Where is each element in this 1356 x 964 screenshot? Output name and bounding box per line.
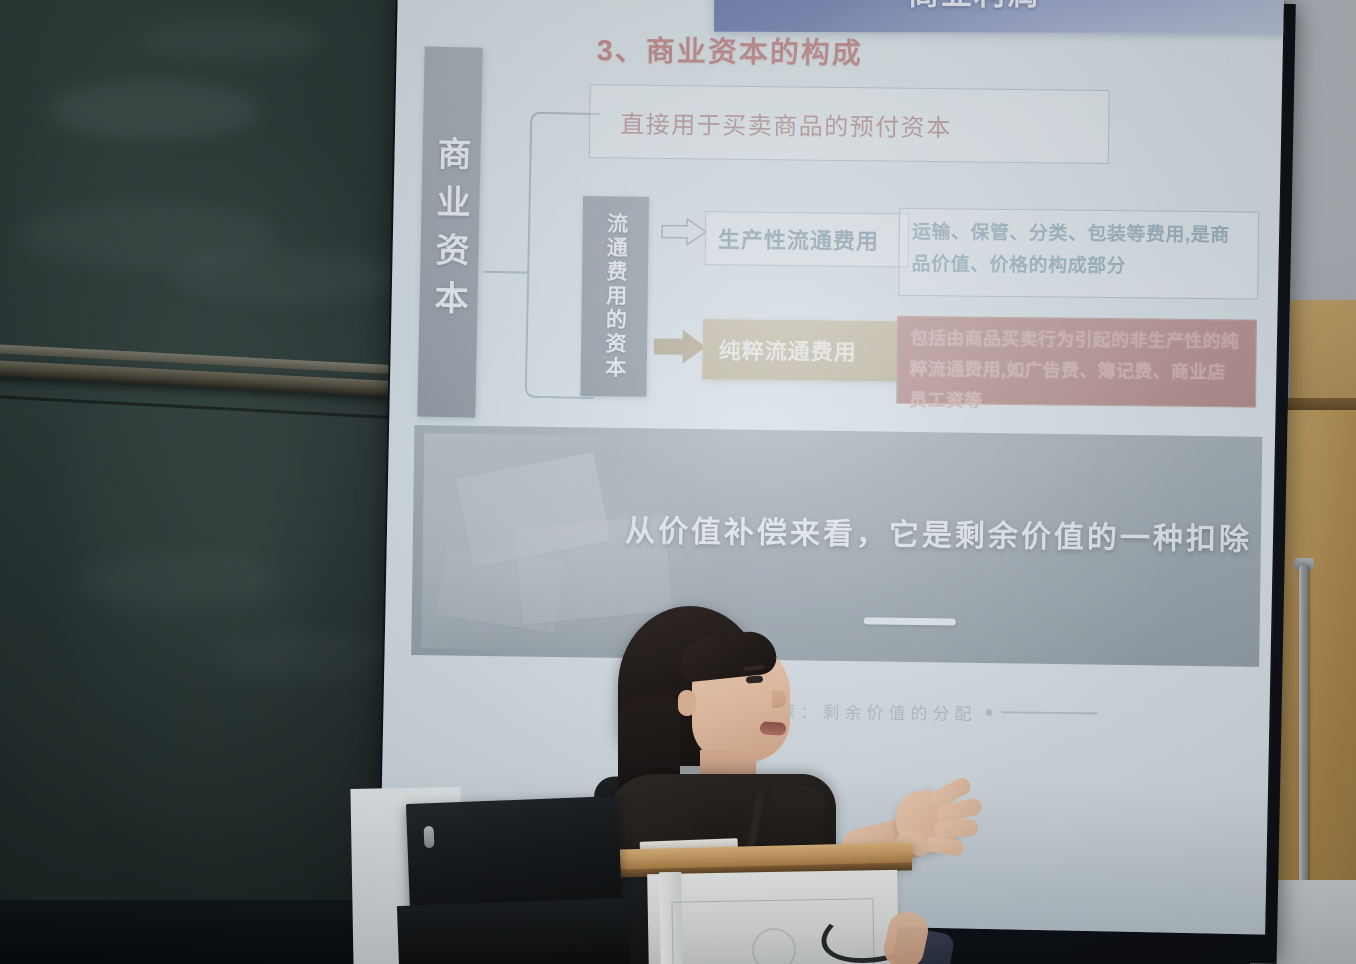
prepaid-capital-text: 直接用于买卖商品的预付资本: [620, 104, 952, 143]
arrow-filled-icon: [653, 327, 707, 366]
arrow-outline-icon: [661, 218, 707, 246]
lecturer-mouth: [760, 721, 787, 735]
vertical-label-text: 商业资本: [424, 136, 477, 329]
lecturer-finger: [934, 819, 979, 838]
slide-section-title: 3、商业资本的构成: [596, 27, 863, 72]
lecturer-eye: [746, 675, 763, 683]
laptop-monitor[interactable]: [406, 796, 622, 916]
circulation-cost-capital-text: 流通费用的资本: [599, 212, 631, 380]
lecturer-nose: [772, 690, 786, 708]
door-handle[interactable]: [1299, 565, 1308, 900]
lecture-hall-scene: 商业利润 政治经济学 、、、职能 3、商业资本的构成 商业资本 直接用于买卖商品…: [0, 0, 1356, 964]
pure-circulation-cost-description-box: 包括由商品买卖行为引起的非生产性的纯粹流通费用,如广告费、簿记费、商业店员工资等: [896, 316, 1257, 408]
laptop-logo-icon: [424, 826, 435, 848]
previous-bullet-text: 、、、职能: [598, 0, 720, 4]
slide-header-title: 商业利润: [908, 0, 1168, 14]
lecturer-finger: [925, 835, 965, 857]
vertical-label-bar: 商业资本: [417, 47, 482, 418]
laptop-base: [397, 898, 631, 964]
lecturer-ear: [678, 690, 696, 716]
productive-circulation-cost-description-box: 运输、保管、分类、包装等费用,是商品价值、价格的构成部分: [898, 208, 1259, 300]
productive-circulation-cost-description: 运输、保管、分类、包装等费用,是商品价值、价格的构成部分: [911, 217, 1246, 284]
productive-circulation-cost-box: 生产性流通费用: [705, 211, 910, 267]
prepaid-capital-box: 直接用于买卖商品的预付资本: [589, 84, 1110, 164]
door-trim: [1278, 398, 1356, 410]
pure-circulation-cost-box: 纯粹流通费用: [702, 319, 907, 381]
pure-circulation-cost-label: 纯粹流通费用: [719, 333, 857, 367]
pure-circulation-cost-description: 包括由商品买卖行为引起的非生产性的纯粹流通费用,如广告费、簿记费、商业店员工资等: [909, 323, 1244, 419]
slide-header-subtitle: 政治经济学: [1149, 46, 1284, 67]
conclusion-banner-text: 从价值补偿来看，它是剩余价值的一种扣除: [625, 506, 1246, 559]
circulation-cost-capital-block: 流通费用的资本: [580, 196, 649, 397]
footer-dash-right: [1001, 711, 1097, 714]
productive-circulation-cost-label: 生产性流通费用: [718, 222, 879, 256]
